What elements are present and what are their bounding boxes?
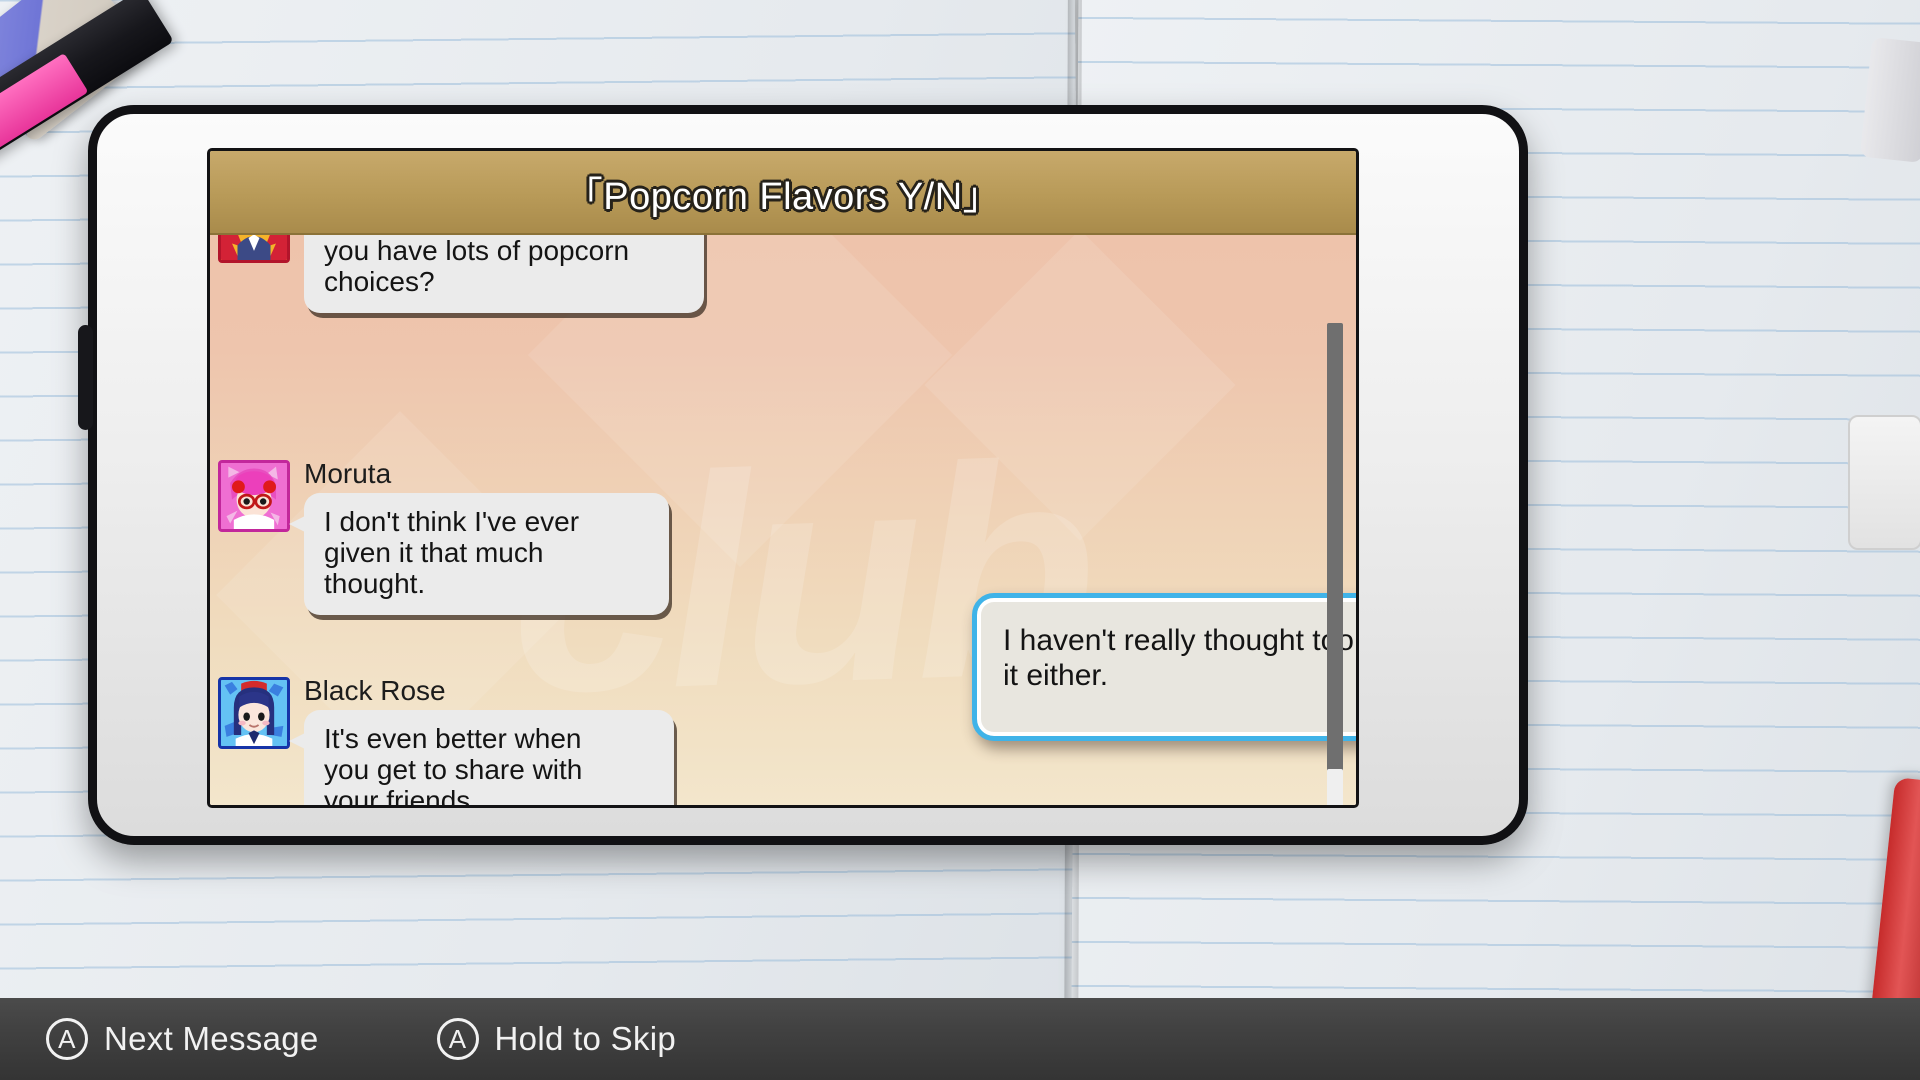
message-bubble[interactable]: go to see a movie and you have lots of p… <box>304 235 704 313</box>
hint-label: Hold to Skip <box>495 1020 677 1058</box>
list-item[interactable]: Black Rose It's even better when you get… <box>218 677 674 808</box>
moruta-avatar[interactable] <box>218 460 290 532</box>
button-hint-bar: A Next Message A Hold to Skip <box>0 998 1920 1080</box>
a-button-icon: A <box>437 1018 479 1060</box>
app-titlebar: 「Popcorn Flavors Y/N」 <box>210 151 1356 235</box>
a-button-icon: A <box>46 1018 88 1060</box>
message-bubble[interactable]: I don't think I've ever given it that mu… <box>304 493 669 615</box>
hint-hold-to-skip[interactable]: A Hold to Skip <box>437 1018 677 1060</box>
message-column: Moruta I don't think I've ever given it … <box>304 460 669 615</box>
message-bubble[interactable]: It's even better when you get to share w… <box>304 710 674 808</box>
list-item[interactable]: Moruta I don't think I've ever given it … <box>218 460 669 615</box>
phone-side-button[interactable] <box>1848 415 1920 550</box>
sakura-avatar[interactable] <box>218 235 290 263</box>
scrollbar-thumb[interactable] <box>1327 769 1343 808</box>
sender-name: Black Rose <box>304 677 674 705</box>
chat-app-window: 「Popcorn Flavors Y/N」 club <box>207 148 1359 808</box>
list-item[interactable]: go to see a movie and you have lots of p… <box>218 235 704 313</box>
page-title: 「Popcorn Flavors Y/N」 <box>565 165 1001 220</box>
black-rose-avatar[interactable] <box>218 677 290 749</box>
scrollbar-track[interactable] <box>1327 323 1343 808</box>
message-column: Black Rose It's even better when you get… <box>304 677 674 808</box>
selected-message-bubble[interactable]: I haven't really thought too much on it … <box>972 593 1356 741</box>
sender-name: Moruta <box>304 460 669 488</box>
phone-volume-button[interactable] <box>78 325 93 430</box>
hint-label: Next Message <box>104 1020 319 1058</box>
chat-message-list[interactable]: club <box>210 235 1356 808</box>
game-screenshot: 「Popcorn Flavors Y/N」 club <box>0 0 1920 1080</box>
hint-next-message[interactable]: A Next Message <box>46 1018 319 1060</box>
message-column: go to see a movie and you have lots of p… <box>304 235 704 313</box>
